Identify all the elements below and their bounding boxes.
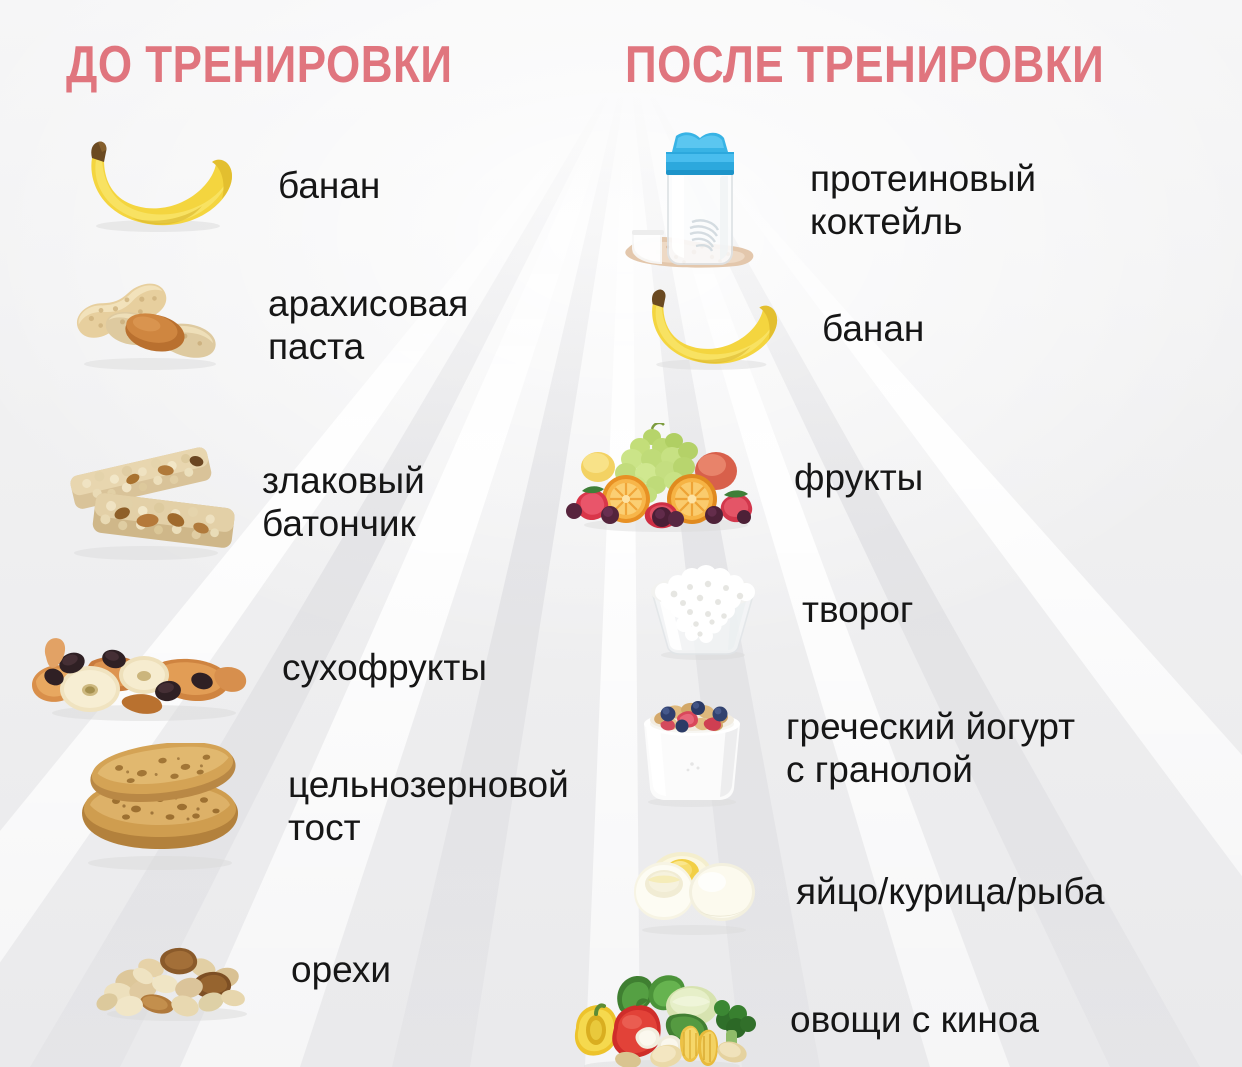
banana-icon: [626, 286, 786, 372]
list-item: цельнозерновой тост: [60, 743, 569, 871]
list-item-label: банан: [278, 165, 380, 208]
list-item: орехи: [85, 918, 391, 1023]
before-workout-title: ДО ТРЕНИРОВКИ: [66, 36, 453, 95]
boiled-eggs-icon: [624, 848, 764, 936]
peanut-butter-icon: [50, 278, 240, 373]
list-item-label: орехи: [291, 949, 391, 992]
list-item: сухофрукты: [18, 613, 487, 723]
nuts-icon: [85, 918, 265, 1023]
list-item: фрукты: [566, 423, 923, 533]
list-item-label: злаковый батончик: [262, 460, 425, 546]
banana-icon: [62, 138, 242, 234]
cereal-bar-icon: [42, 443, 242, 563]
whole-grain-toast-icon: [60, 743, 260, 871]
column-headers: ДО ТРЕНИРОВКИ ПОСЛЕ ТРЕНИРОВКИ: [0, 0, 1242, 118]
list-item-label: арахисовая паста: [268, 283, 468, 369]
list-item: протеиновый коктейль: [624, 126, 1036, 276]
list-item: банан: [626, 286, 924, 372]
list-item-label: банан: [822, 308, 924, 351]
list-item-label: яйцо/курица/рыба: [796, 871, 1104, 914]
protein-shaker-icon: [624, 126, 774, 276]
list-item: овощи с киноа: [566, 968, 1039, 1067]
list-item: злаковый батончик: [42, 443, 425, 563]
fruit-mix-icon: [566, 423, 766, 533]
list-item-label: протеиновый коктейль: [810, 158, 1036, 244]
workout-nutrition-infographic: ДО ТРЕНИРОВКИ ПОСЛЕ ТРЕНИРОВКИ: [0, 0, 1242, 1067]
list-item: яйцо/курица/рыба: [624, 848, 1104, 936]
list-item-label: греческий йогурт с гранолой: [786, 706, 1075, 792]
dried-fruit-icon: [18, 613, 258, 723]
list-item-label: сухофрукты: [282, 647, 487, 690]
vegetables-icon: [566, 968, 756, 1067]
list-item-label: фрукты: [794, 457, 923, 500]
list-item-label: творог: [802, 589, 913, 632]
cottage-cheese-bowl-icon: [638, 558, 768, 662]
list-item-label: овощи с киноа: [790, 999, 1039, 1042]
list-item-label: цельнозерновой тост: [288, 764, 569, 850]
list-item: творог: [638, 558, 913, 662]
list-item: банан: [62, 138, 380, 234]
list-item: арахисовая паста: [50, 278, 468, 373]
yogurt-granola-icon: [628, 690, 756, 808]
list-item: греческий йогурт с гранолой: [628, 690, 1075, 808]
after-workout-title: ПОСЛЕ ТРЕНИРОВКИ: [625, 36, 1104, 95]
